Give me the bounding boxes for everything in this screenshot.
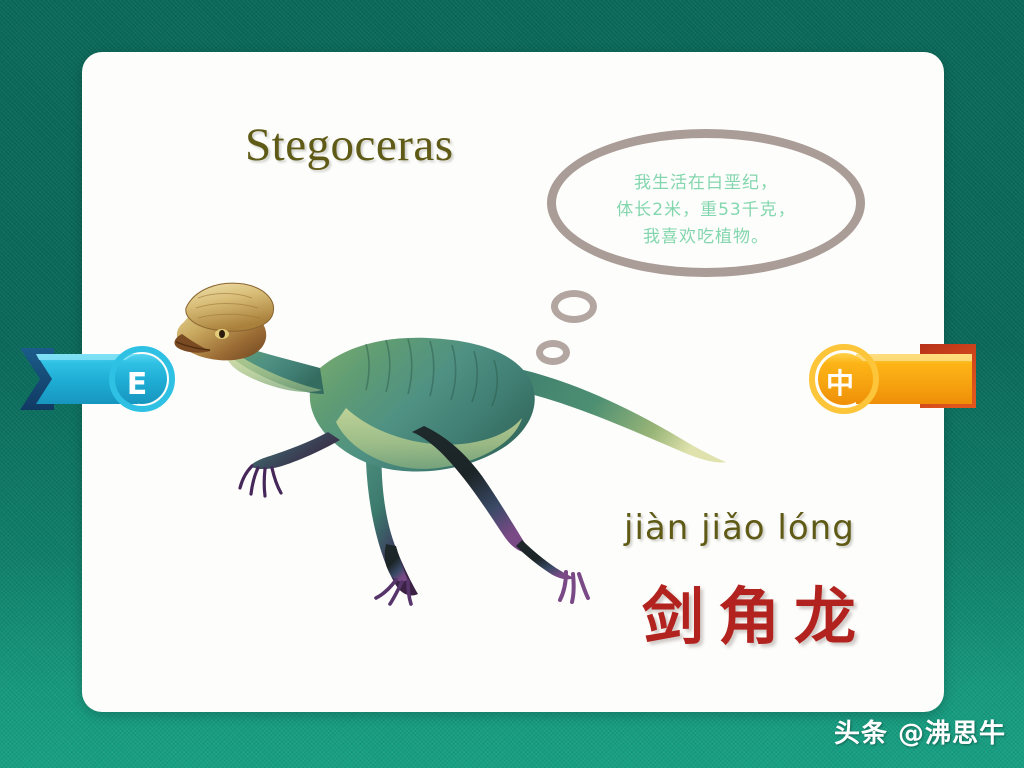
watermark-text: 头条 @沸思牛 <box>834 713 1006 750</box>
dino-near-foot-claws <box>560 572 588 602</box>
dino-far-foot <box>385 544 408 582</box>
english-ribbon-button[interactable] <box>18 338 178 420</box>
ribbon-badge-fill <box>818 353 870 405</box>
dino-front-claws <box>240 466 281 496</box>
slide-canvas: Stegoceras 我生活在白垩纪， 体长2米，重53千克， 我喜欢吃植物。 <box>0 0 1024 768</box>
dinosaur-illustration <box>170 250 730 610</box>
ribbon-band-highlight <box>856 354 972 361</box>
ribbon-badge-fill <box>117 354 167 404</box>
pinyin-label: jiàn jiǎo lóng <box>624 508 855 548</box>
dino-pupil <box>219 330 225 338</box>
chinese-ribbon-button[interactable] <box>800 338 980 420</box>
dino-tail <box>514 368 726 463</box>
page-title: Stegoceras <box>245 118 454 172</box>
thought-bubble-text: 我生活在白垩纪， 体长2米，重53千克， 我喜欢吃植物。 <box>560 170 852 251</box>
dino-front-arm <box>250 432 340 469</box>
chinese-name-label: 剑角龙 <box>642 566 870 656</box>
